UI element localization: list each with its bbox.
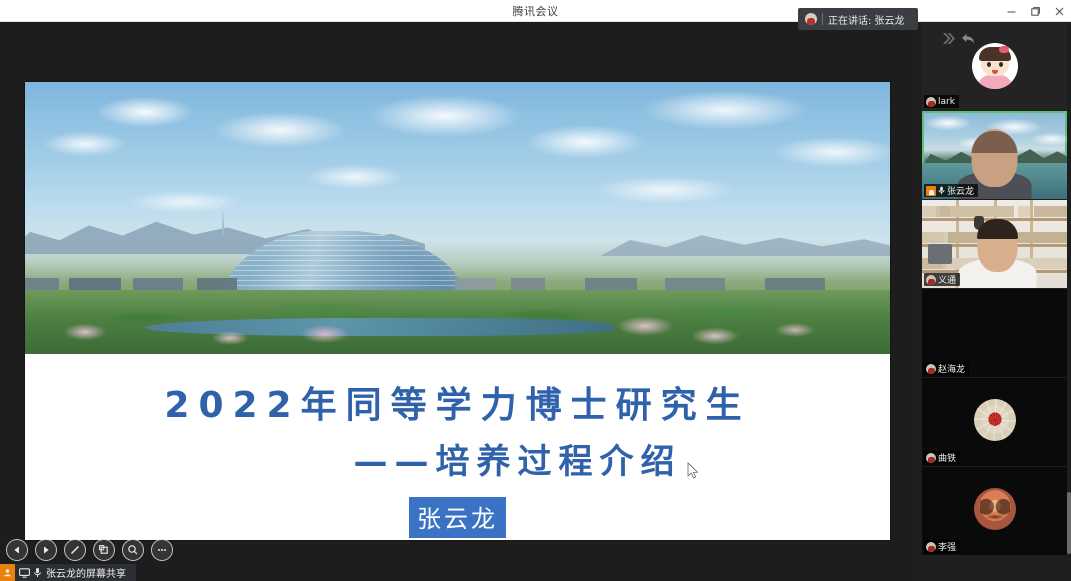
participant-tiles: lark: [918, 22, 1071, 556]
speaker-avatar-icon: [805, 13, 817, 25]
presentation-slide: 2022年同等学力博士研究生 ——培养过程介绍 张云龙: [25, 82, 890, 540]
participant-tile[interactable]: 张云龙: [922, 111, 1067, 199]
close-button[interactable]: [1047, 0, 1071, 22]
minimize-button[interactable]: [999, 0, 1023, 22]
share-bar-icons: [15, 567, 46, 578]
participant-name-badge: 李强: [924, 540, 960, 553]
slide-title-line1: 2022年同等学力博士研究生: [25, 376, 890, 428]
avatar: [972, 43, 1018, 89]
mountain-range: [25, 194, 890, 254]
select-region-button[interactable]: [93, 539, 115, 561]
pen-icon: [69, 544, 81, 556]
slide-text-block: 2022年同等学力博士研究生 ——培养过程介绍 张云龙: [25, 354, 890, 540]
speaker-divider: [822, 13, 823, 25]
participant-name: 义通: [938, 273, 956, 286]
pen-annotate-button[interactable]: [64, 539, 86, 561]
participant-name: 赵海龙: [938, 362, 965, 375]
restore-icon: [1030, 6, 1041, 17]
participant-name-badge: 张云龙: [924, 184, 978, 197]
active-speaker-label: 正在讲话: 张云龙: [828, 12, 905, 27]
avatar: [974, 399, 1016, 441]
collapse-panel-icon[interactable]: [941, 32, 956, 45]
triangle-right-icon: [41, 545, 51, 555]
tencent-meeting-window: 腾讯会议: [0, 0, 1071, 581]
magnifier-icon: [127, 544, 139, 556]
participant-name-badge: 曲铁: [924, 451, 960, 464]
cherry-blossoms: [25, 310, 890, 354]
annotation-toolbar: [6, 539, 173, 561]
profile-icon: [926, 275, 936, 285]
monitor-icon: [19, 568, 30, 578]
microphone-icon: [938, 186, 945, 195]
participant-tile[interactable]: 赵海龙: [922, 289, 1067, 377]
restore-button[interactable]: [1023, 0, 1047, 22]
window-title: 腾讯会议: [513, 3, 559, 19]
close-icon: [1054, 6, 1065, 17]
active-speaker-bar: 正在讲话: 张云龙: [798, 8, 918, 30]
participant-name: 张云龙: [947, 184, 974, 197]
participant-tile[interactable]: 曲铁: [922, 378, 1067, 466]
profile-icon: [926, 364, 936, 374]
panel-scrollbar[interactable]: [1067, 492, 1071, 554]
participant-tile[interactable]: 李强: [922, 467, 1067, 555]
participant-name: 曲铁: [938, 451, 956, 464]
ellipsis-icon: [156, 544, 168, 556]
shared-screen-stage: 2022年同等学力博士研究生 ——培养过程介绍 张云龙: [0, 22, 918, 581]
participant-name-badge: lark: [924, 95, 959, 108]
profile-icon: [926, 453, 936, 463]
zoom-button[interactable]: [122, 539, 144, 561]
participant-tile[interactable]: 义通: [922, 200, 1067, 288]
window-controls: [999, 0, 1071, 22]
campus-photo: [25, 82, 890, 354]
next-slide-button[interactable]: [35, 539, 57, 561]
share-status-bar: 张云龙的屏幕共享: [0, 564, 136, 581]
share-status-label: 张云龙的屏幕共享: [46, 565, 130, 580]
tower-mast: [222, 200, 224, 236]
share-user-icon: [926, 186, 936, 196]
slide-author-wrap: 张云龙: [25, 497, 890, 538]
minimize-panel-icon[interactable]: [961, 33, 975, 45]
participant-name-badge: 义通: [924, 273, 960, 286]
minimize-icon: [1006, 6, 1017, 17]
participant-name: 李强: [938, 540, 956, 553]
panel-tool-buttons: [941, 32, 975, 45]
previous-slide-button[interactable]: [6, 539, 28, 561]
slide-author: 张云龙: [409, 497, 506, 538]
profile-icon: [926, 542, 936, 552]
frame-icon: [98, 544, 110, 556]
microphone-icon: [33, 567, 42, 578]
slide-title-line2: ——培养过程介绍: [25, 434, 890, 483]
triangle-left-icon: [12, 545, 22, 555]
share-user-icon: [0, 564, 15, 581]
participant-name: lark: [938, 97, 955, 107]
profile-icon: [926, 97, 936, 107]
avatar: [974, 488, 1016, 530]
participant-video-panel: lark: [918, 22, 1071, 581]
more-options-button[interactable]: [151, 539, 173, 561]
participant-name-badge: 赵海龙: [924, 362, 969, 375]
